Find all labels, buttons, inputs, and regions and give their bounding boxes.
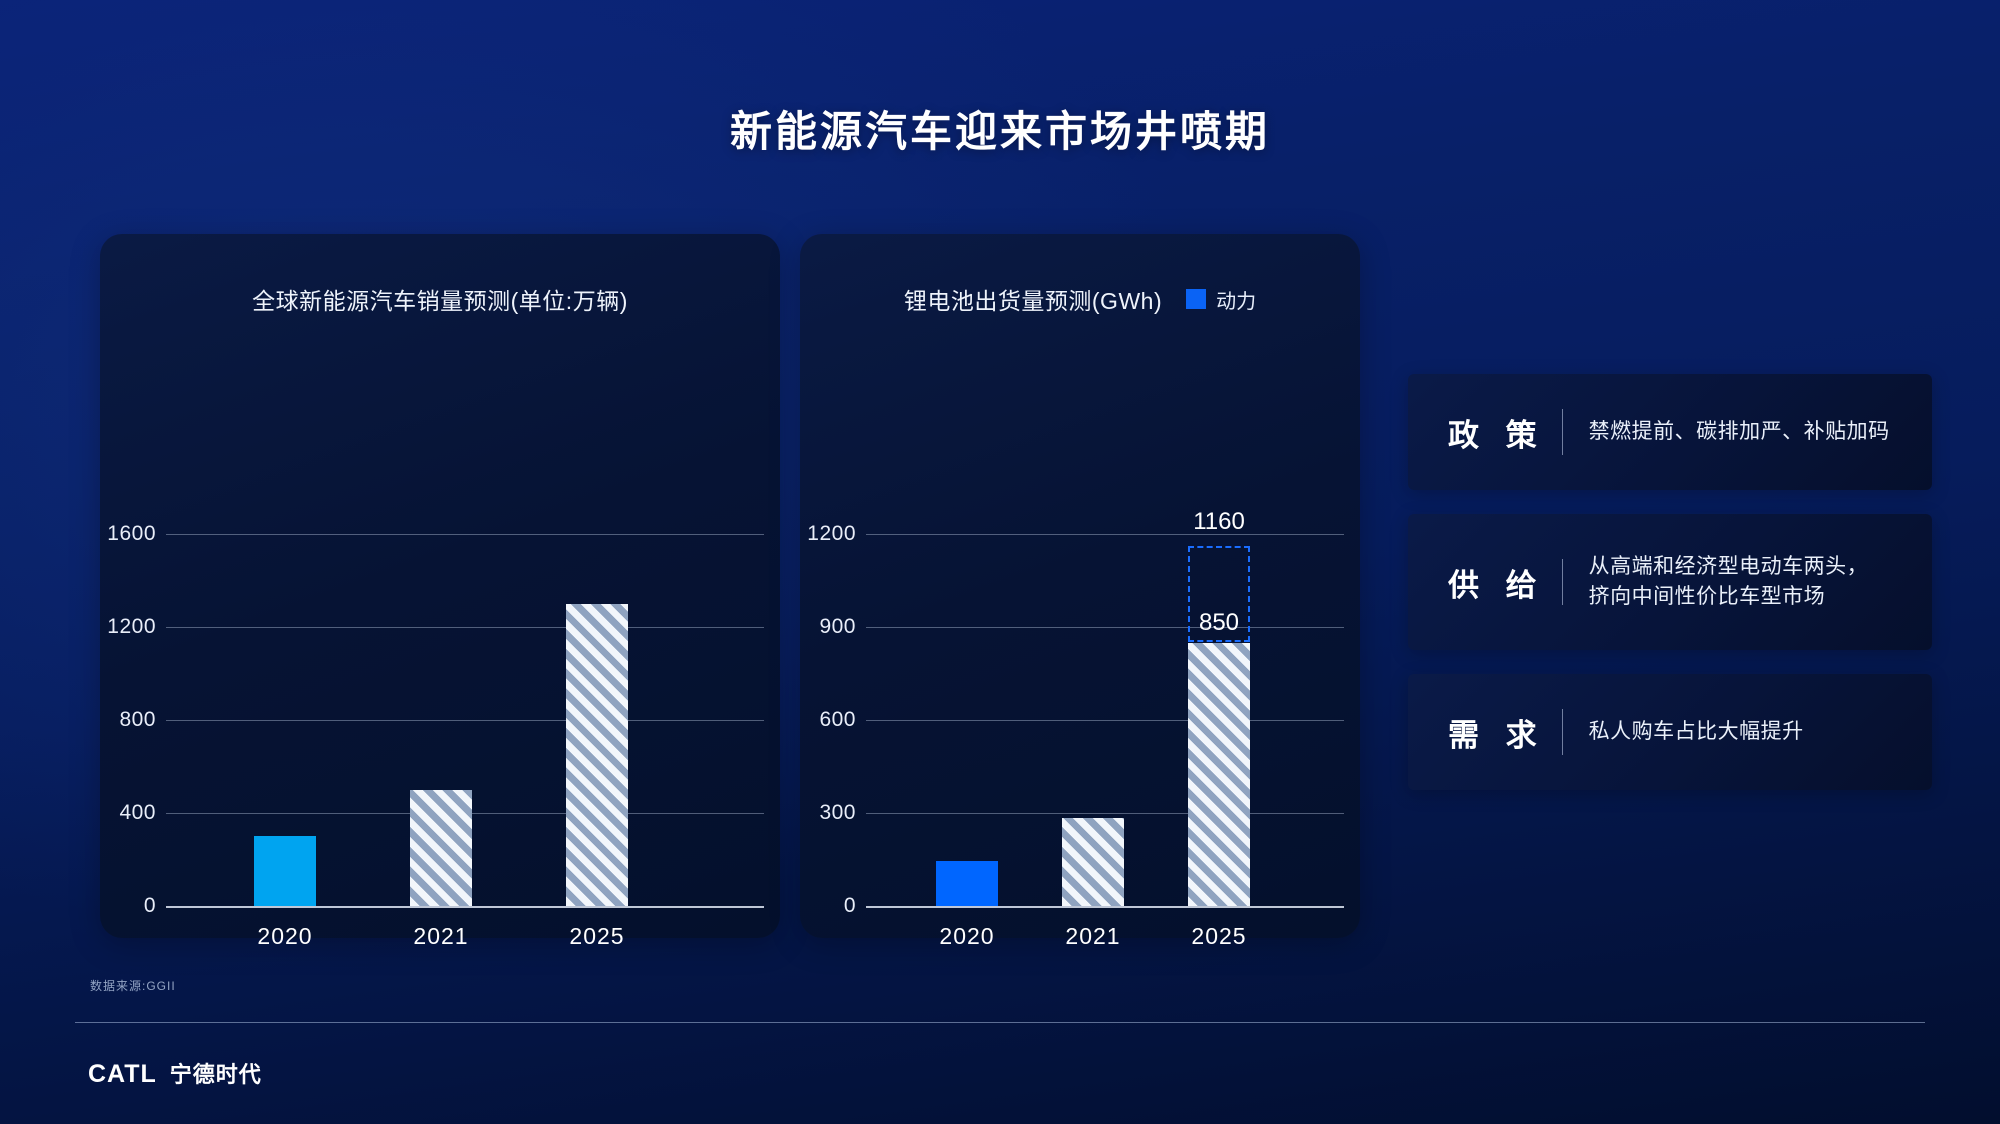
bar-2021[interactable] [1062, 818, 1124, 906]
data-source-note: 数据来源:GGII [90, 977, 176, 994]
x-axis-label: 2021 [413, 923, 468, 950]
bar-group-right: 2020202120251160850 [866, 234, 1344, 938]
y-axis-tick-label: 300 [800, 801, 856, 825]
info-card-demand[interactable]: 需 求 私人购车占比大幅提升 [1408, 674, 1932, 790]
y-axis-tick-label: 0 [100, 894, 156, 918]
info-card-key: 政 策 [1448, 410, 1552, 455]
chart-panel-global-nev-sales: 全球新能源汽车销量预测(单位:万辆) 040080012001600 20202… [100, 234, 780, 938]
page-title: 新能源汽车迎来市场井喷期 [0, 98, 2000, 159]
y-axis-tick-label: 1200 [100, 615, 156, 639]
brand-logo: CATL 宁德时代 [88, 1057, 262, 1089]
info-card-text: 禁燃提前、碳排加严、补贴加码 [1589, 417, 1890, 447]
x-axis-label: 2025 [569, 923, 624, 950]
bar-group-left: 202020212025 [166, 234, 764, 938]
chart-plot-area-right: 03006009001200 2020202120251160850 [800, 234, 1360, 938]
info-card-text: 私人购车占比大幅提升 [1589, 717, 1804, 747]
brand-latin-text: CATL [88, 1060, 157, 1089]
bar-2025[interactable] [566, 604, 628, 906]
x-axis-label: 2020 [257, 923, 312, 950]
brand-chinese-text: 宁德时代 [170, 1057, 262, 1089]
info-card-key: 需 求 [1448, 710, 1552, 755]
chart-panel-lithium-battery-shipment: 锂电池出货量预测(GWh) 动力 03006009001200 20202021… [800, 234, 1360, 938]
y-axis-tick-label: 400 [100, 801, 156, 825]
y-axis-tick-label: 600 [800, 708, 856, 732]
divider [1562, 559, 1563, 605]
y-axis-tick-label: 800 [100, 708, 156, 732]
y-axis-tick-label: 0 [800, 894, 856, 918]
bar-slot: 2025 [566, 534, 628, 906]
chart-plot-area-left: 040080012001600 202020212025 [100, 234, 780, 938]
info-card-key: 供 给 [1448, 560, 1552, 605]
bar-2021[interactable] [410, 790, 472, 906]
x-axis-label: 2020 [939, 923, 994, 950]
footer-divider [75, 1022, 1925, 1023]
x-axis-label: 2021 [1065, 923, 1120, 950]
y-axis-tick-label: 900 [800, 615, 856, 639]
info-card-list: 政 策 禁燃提前、碳排加严、补贴加码 供 给 从高端和经济型电动车两头，挤向中间… [1408, 374, 1932, 814]
bar-slot: 2020 [936, 534, 998, 906]
info-card-policy[interactable]: 政 策 禁燃提前、碳排加严、补贴加码 [1408, 374, 1932, 490]
y-axis-tick-label: 1600 [100, 522, 156, 546]
y-axis-tick-label: 1200 [800, 522, 856, 546]
divider [1562, 709, 1563, 755]
bar-2020[interactable] [254, 836, 316, 906]
divider [1562, 409, 1563, 455]
bar-slot: 2021 [1062, 534, 1124, 906]
bar-value-label-projected: 1160 [1193, 508, 1245, 536]
bar-value-label: 850 [1199, 609, 1239, 637]
bar-slot: 2021 [410, 534, 472, 906]
bar-2020[interactable] [936, 861, 998, 906]
bar-2025[interactable] [1188, 643, 1250, 907]
x-axis-label: 2025 [1191, 923, 1246, 950]
info-card-text: 从高端和经济型电动车两头，挤向中间性价比车型市场 [1589, 552, 1869, 613]
bar-slot: 2020 [254, 534, 316, 906]
info-card-supply[interactable]: 供 给 从高端和经济型电动车两头，挤向中间性价比车型市场 [1408, 514, 1932, 650]
